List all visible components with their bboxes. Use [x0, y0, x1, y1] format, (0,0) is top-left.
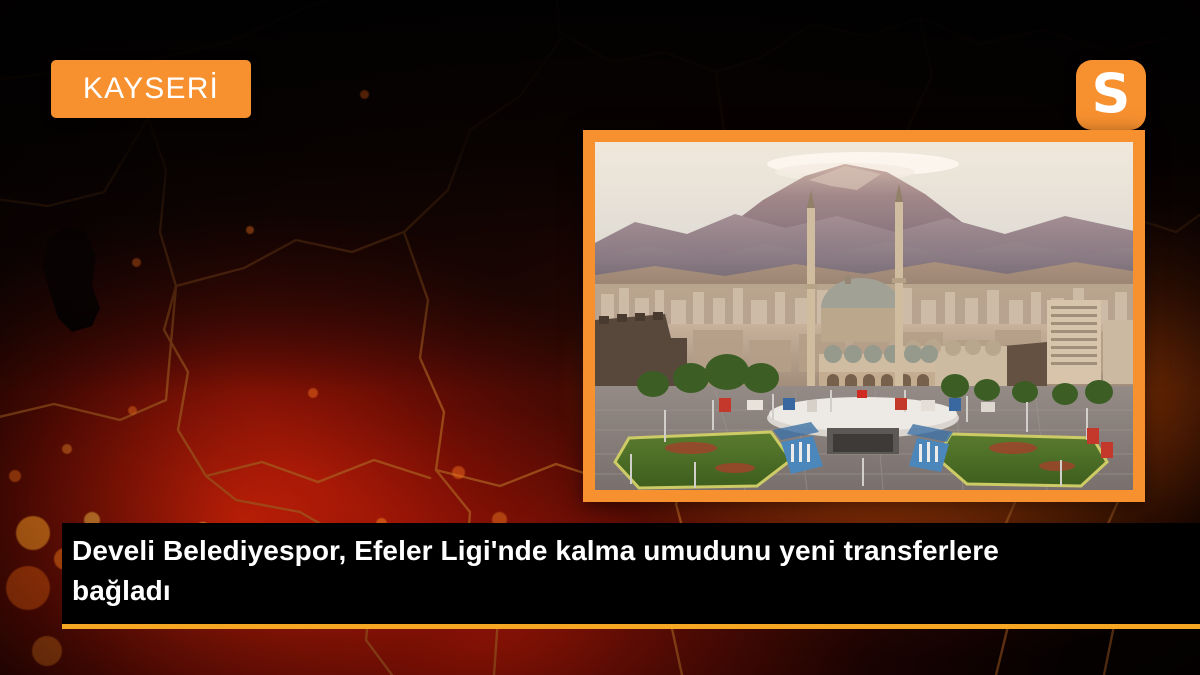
- brand-logo[interactable]: S: [1076, 60, 1146, 130]
- news-card: KAYSERİ S: [0, 0, 1200, 675]
- brand-logo-letter: S: [1092, 67, 1131, 121]
- headline-text: Develi Belediyespor, Efeler Ligi'nde kal…: [72, 531, 1072, 611]
- kayseri-square-photo: [595, 142, 1133, 490]
- city-badge-label: KAYSERİ: [83, 74, 219, 104]
- headline-rule: [62, 624, 1200, 629]
- headline-bar: Develi Belediyespor, Efeler Ligi'nde kal…: [62, 523, 1200, 627]
- city-badge: KAYSERİ: [51, 60, 251, 118]
- photo-frame: [583, 130, 1145, 502]
- photo-image: [595, 142, 1133, 490]
